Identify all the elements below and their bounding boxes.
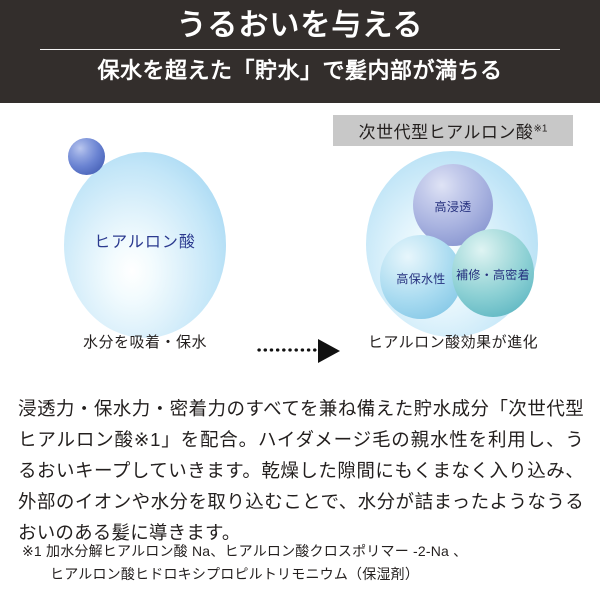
next-generation-label-box: 次世代型ヒアルロン酸※1: [333, 115, 573, 146]
arrow-dots: [256, 348, 318, 352]
header-banner: うるおいを与える 保水を超えた「貯水」で髪内部が満ちる: [0, 0, 600, 103]
body-paragraph: 浸透力・保水力・密着力のすべてを兼ね備えた貯水成分「次世代型ヒアルロン酸※1」を…: [18, 393, 584, 548]
next-generation-label-mark: ※1: [533, 123, 547, 134]
hyaluronic-acid-diagram: ヒアルロン酸 水分を吸着・保水 次世代型ヒアルロン酸※1 高浸透 高保水性 補修…: [0, 103, 600, 375]
left-caption: 水分を吸着・保水: [50, 331, 240, 352]
inner-bubble-label: 補修・高密着: [456, 266, 530, 283]
next-generation-label-main: 次世代型ヒアルロン酸: [359, 123, 534, 142]
next-generation-bubble: 高浸透 高保水性 補修・高密着: [366, 151, 538, 337]
dotted-arrow-right-icon: [256, 341, 348, 361]
inner-bubble-label: 高保水性: [396, 270, 445, 287]
arrow-head: [318, 339, 340, 363]
inner-bubble-repair-adhesion: 補修・高密着: [452, 229, 534, 317]
inner-bubble-high-moisture-retention: 高保水性: [380, 235, 462, 319]
header-divider: [40, 49, 560, 50]
footnote-line-1: ※1 加水分解ヒアルロン酸 Na、ヒアルロン酸クロスポリマー -2-Na 、: [22, 543, 467, 559]
header-title: うるおいを与える: [176, 7, 423, 45]
right-caption: ヒアルロン酸効果が進化: [357, 331, 549, 352]
product-info-page: うるおいを与える 保水を超えた「貯水」で髪内部が満ちる ヒアルロン酸 水分を吸着…: [0, 0, 600, 600]
blue-sphere-icon: [68, 138, 105, 175]
next-generation-label-text: 次世代型ヒアルロン酸※1: [359, 118, 548, 143]
footnote-line-2: ヒアルロン酸ヒドロキシプロピルトリモニウム（保湿剤）: [22, 563, 582, 586]
header-subtitle: 保水を超えた「貯水」で髪内部が満ちる: [97, 57, 502, 85]
hyaluronic-acid-bubble: ヒアルロン酸: [64, 152, 226, 338]
hyaluronic-acid-bubble-label: ヒアルロン酸: [64, 228, 226, 252]
footnote: ※1 加水分解ヒアルロン酸 Na、ヒアルロン酸クロスポリマー -2-Na 、 ヒ…: [22, 540, 582, 586]
inner-bubble-label: 高浸透: [435, 198, 472, 215]
